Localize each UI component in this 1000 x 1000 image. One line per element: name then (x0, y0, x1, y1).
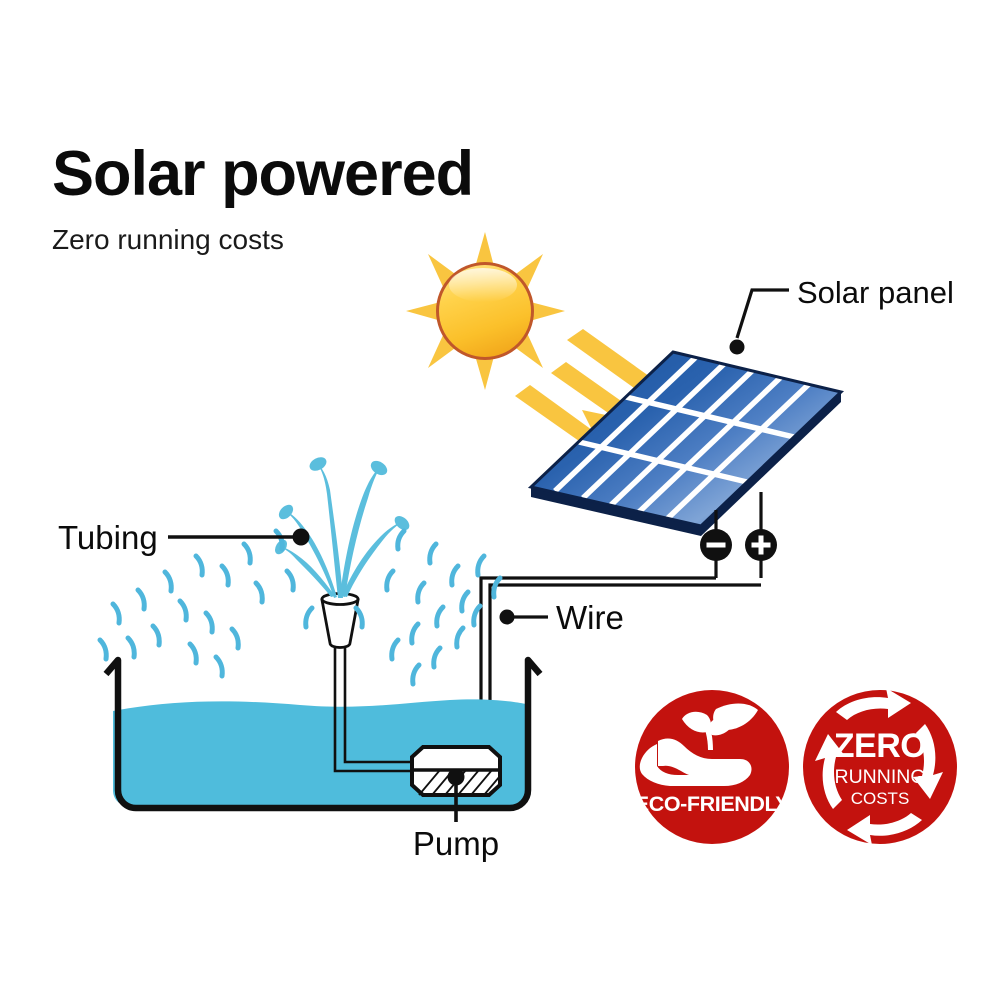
nozzle-body (322, 600, 358, 648)
sun-highlight (449, 268, 517, 302)
label-pump: Pump (413, 825, 499, 862)
plus-icon-v (759, 536, 764, 555)
leader-wire (500, 610, 549, 625)
water-droplets (100, 531, 500, 684)
badge-zero-line3: COSTS (851, 789, 910, 808)
solar-pump-diagram: ECO-FRIENDLY ZERO RUNNING COSTS Solar po… (0, 0, 1000, 1000)
label-solar-panel: Solar panel (797, 275, 954, 310)
label-tubing: Tubing (58, 519, 158, 556)
infographic-canvas: ECO-FRIENDLY ZERO RUNNING COSTS Solar po… (0, 0, 1000, 1000)
minus-icon (707, 543, 726, 548)
badge-zero-running-costs[interactable]: ZERO RUNNING COSTS (803, 688, 957, 845)
leader-tubing (168, 529, 310, 546)
label-wire: Wire (556, 599, 624, 636)
badge-zero-line2: RUNNING (835, 766, 926, 788)
sun-icon (406, 232, 565, 390)
page-title: Solar powered (52, 139, 473, 209)
badge-eco-friendly[interactable]: ECO-FRIENDLY (635, 690, 790, 844)
fountain-nozzle (322, 594, 358, 648)
badge-eco-label: ECO-FRIENDLY (635, 792, 790, 816)
badge-zero-line1: ZERO (834, 727, 927, 765)
page-subtitle: Zero running costs (52, 224, 284, 255)
leader-solar-panel (730, 290, 790, 355)
